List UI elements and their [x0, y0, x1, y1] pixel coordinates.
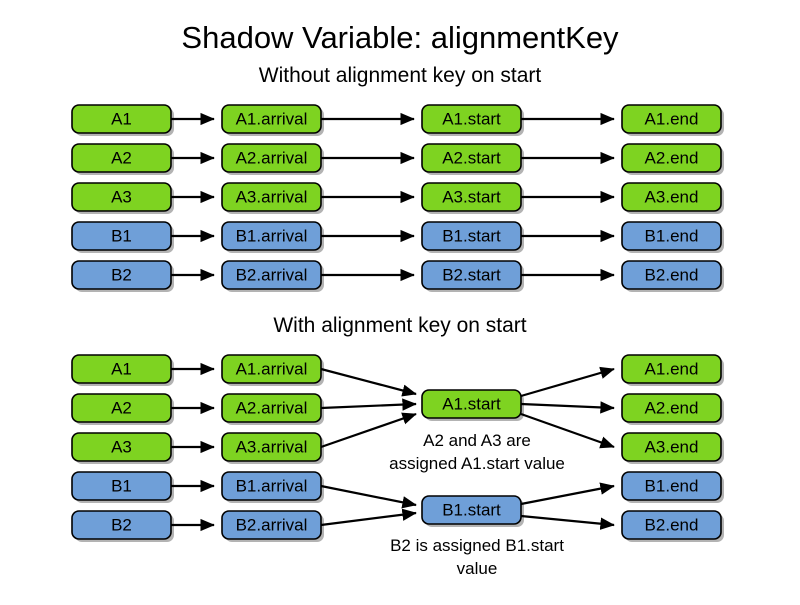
list-item: A2.end: [622, 394, 724, 425]
node-a1-end-label: A1.end: [645, 109, 699, 128]
list-item: B2.end: [622, 511, 724, 542]
node-a1-start-label: A1.start: [442, 109, 501, 128]
node-b2-arrival-label: B2.arrival: [236, 265, 308, 284]
node-shared-a1-start-label: A1.start: [442, 394, 501, 413]
background: [0, 0, 800, 600]
node-a2-arrival-aligned-label: A2.arrival: [236, 398, 308, 417]
page-title: Shadow Variable: alignmentKey: [181, 20, 619, 55]
node-a2-start-label: A2.start: [442, 148, 501, 167]
node-b2-arrival-aligned-label: B2.arrival: [236, 515, 308, 534]
node-b1-entity-label: B1: [111, 226, 132, 245]
caption-a-line2: assigned A1.start value: [389, 454, 565, 473]
node-a3-start-label: A3.start: [442, 187, 501, 206]
node-b2-entity-aligned-label: B2: [111, 515, 132, 534]
caption-a-line1: A2 and A3 are: [423, 431, 531, 450]
list-item: B1.end: [622, 472, 724, 503]
node-a3-arrival-label: A3.arrival: [236, 187, 308, 206]
node-b2-entity-label: B2: [111, 265, 132, 284]
node-a3-end-label: A3.end: [645, 187, 699, 206]
node-a2-end-aligned-label: A2.end: [645, 398, 699, 417]
node-b1-end-aligned-label: B1.end: [645, 476, 699, 495]
node-a2-entity-aligned-label: A2: [111, 398, 132, 417]
node-a1-end-aligned-label: A1.end: [645, 359, 699, 378]
node-a1-entity-aligned-label: A1: [111, 359, 132, 378]
node-a1-arrival-label: A1.arrival: [236, 109, 308, 128]
node-a3-arrival-aligned-label: A3.arrival: [236, 437, 308, 456]
node-a3-end-aligned-label: A3.end: [645, 437, 699, 456]
node-b2-end-aligned-label: B2.end: [645, 515, 699, 534]
node-b1-end-label: B1.end: [645, 226, 699, 245]
node-b2-start-label: B2.start: [442, 265, 501, 284]
node-b1-entity-aligned-label: B1: [111, 476, 132, 495]
caption-b-line2: value: [457, 559, 498, 578]
node-a2-entity-label: A2: [111, 148, 132, 167]
caption-b-line1: B2 is assigned B1.start: [390, 536, 564, 555]
section-heading-without: Without alignment key on start: [259, 64, 542, 87]
node-a2-end-label: A2.end: [645, 148, 699, 167]
node-a3-entity-label: A3: [111, 187, 132, 206]
list-item: A1.end: [622, 355, 724, 386]
node-b1-start-label: B1.start: [442, 226, 501, 245]
list-item: A3.end: [622, 433, 724, 464]
node-b1-arrival-label: B1.arrival: [236, 226, 308, 245]
node-b1-arrival-aligned-label: B1.arrival: [236, 476, 308, 495]
node-shared-b1-start-label: B1.start: [442, 500, 501, 519]
node-a1-arrival-aligned-label: A1.arrival: [236, 359, 308, 378]
section-heading-with: With alignment key on start: [273, 314, 526, 337]
node-a2-arrival-label: A2.arrival: [236, 148, 308, 167]
node-a1-entity-label: A1: [111, 109, 132, 128]
diagram-canvas: Shadow Variable: alignmentKey Without al…: [0, 0, 800, 600]
node-b2-end-label: B2.end: [645, 265, 699, 284]
node-a3-entity-aligned-label: A3: [111, 437, 132, 456]
